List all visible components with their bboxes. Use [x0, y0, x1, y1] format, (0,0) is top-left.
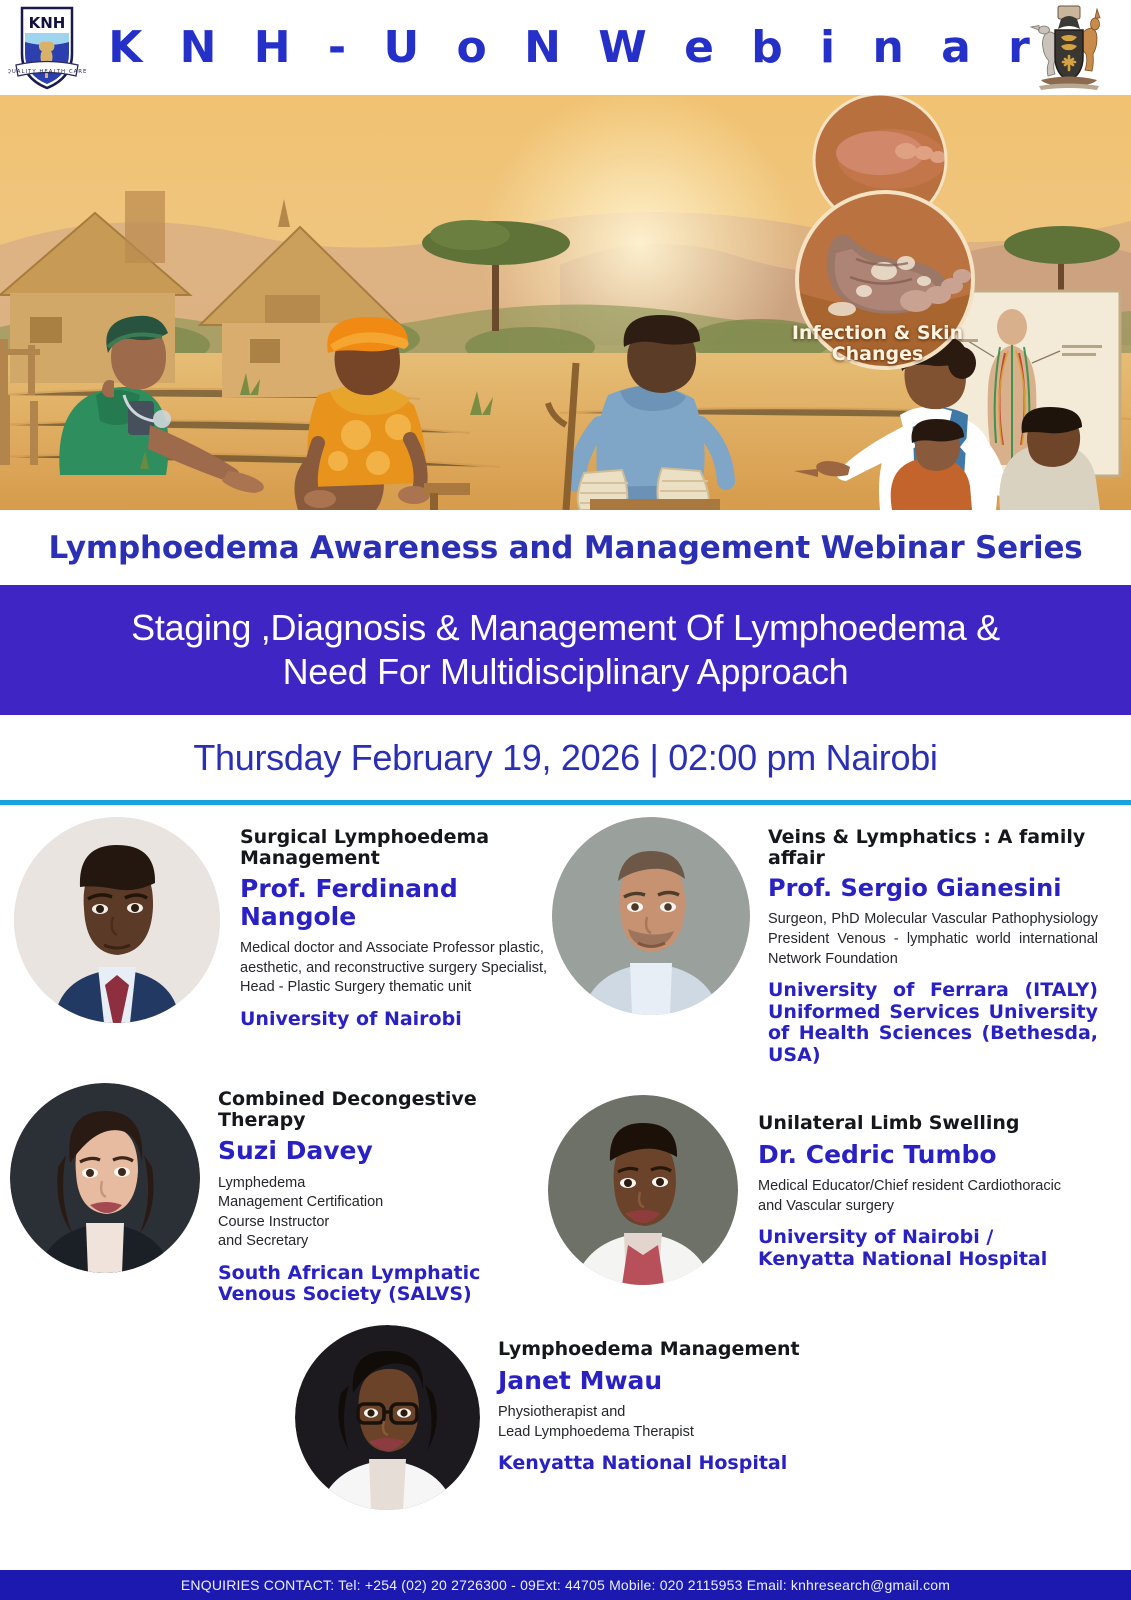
topic-line-2: Need For Multidisciplinary Approach [283, 651, 849, 692]
speaker-info-nangole: Surgical Lymphoedema Management Prof. Fe… [240, 817, 552, 1030]
webinar-poster: KNH QUALITY HEALTH CARE K N H - U o N W … [0, 0, 1131, 1600]
speaker-role: Veins & Lymphatics : A family affair [768, 827, 1098, 868]
speaker-name: Prof. Sergio Gianesini [768, 875, 1098, 901]
speaker-info-davey: Combined Decongestive Therapy Suzi Davey… [218, 1083, 518, 1306]
speaker-card-tumbo: Unilateral Limb Swelling Dr. Cedric Tumb… [548, 1095, 1123, 1285]
speaker-card-davey: Combined Decongestive Therapy Suzi Davey… [10, 1083, 550, 1306]
speaker-bio: Physiotherapist and Lead Lymphoedema The… [498, 1403, 848, 1442]
page-title: K N H - U o N W e b i n a r [0, 22, 1131, 73]
topic-line-1: Staging ,Diagnosis & Management Of Lymph… [131, 607, 1000, 648]
speaker-photo-tumbo [548, 1095, 738, 1285]
speaker-role: Lymphoedema Management [498, 1339, 848, 1360]
speaker-card-nangole: Surgical Lymphoedema Management Prof. Fe… [14, 817, 554, 1030]
uon-logo-icon [1025, 2, 1113, 92]
knh-logo-icon: KNH QUALITY HEALTH CARE [8, 2, 86, 92]
speaker-info-mwau: Lymphoedema Management Janet Mwau Physio… [498, 1325, 848, 1510]
date-band: Thursday February 19, 2026 | 02:00 pm Na… [0, 715, 1131, 800]
speaker-affiliation: South African Lymphatic Venous Society (… [218, 1263, 518, 1306]
speaker-affiliation: University of Nairobi / Kenyatta Nationa… [758, 1227, 1088, 1270]
speaker-affiliation: University of Nairobi [240, 1009, 552, 1031]
speaker-affiliation: Kenyatta National Hospital [498, 1453, 848, 1475]
hero-illustration: Infection & Skin Changes [0, 95, 1131, 510]
speaker-name: Dr. Cedric Tumbo [758, 1141, 1088, 1169]
speaker-role: Surgical Lymphoedema Management [240, 827, 552, 868]
speaker-role: Combined Decongestive Therapy [218, 1089, 518, 1130]
hero-callout-label: Infection & Skin Changes [790, 323, 965, 366]
svg-text:KNH: KNH [29, 14, 66, 32]
topic-band: Staging ,Diagnosis & Management Of Lymph… [0, 585, 1131, 715]
speaker-bio: Medical Educator/Chief resident Cardioth… [758, 1177, 1088, 1216]
speaker-photo-mwau [295, 1325, 480, 1510]
speaker-photo-nangole [14, 817, 220, 1023]
speaker-card-gianesini: Veins & Lymphatics : A family affair Pro… [552, 817, 1122, 1067]
series-title: Lymphoedema Awareness and Management Web… [48, 530, 1082, 566]
speaker-role: Unilateral Limb Swelling [758, 1113, 1088, 1134]
svg-text:QUALITY HEALTH CARE: QUALITY HEALTH CARE [8, 69, 86, 75]
hero-scene-graphic [0, 95, 1131, 510]
speaker-photo-davey [10, 1083, 200, 1273]
topic-text: Staging ,Diagnosis & Management Of Lymph… [111, 606, 1020, 694]
contact-footer: ENQUIRIES CONTACT: Tel: +254 (02) 20 272… [0, 1570, 1131, 1600]
speaker-name: Janet Mwau [498, 1367, 848, 1395]
event-datetime: Thursday February 19, 2026 | 02:00 pm Na… [193, 737, 937, 779]
speaker-photo-gianesini [552, 817, 750, 1015]
speaker-info-tumbo: Unilateral Limb Swelling Dr. Cedric Tumb… [758, 1095, 1088, 1285]
speaker-name: Suzi Davey [218, 1137, 518, 1165]
speaker-bio: Lymphedema Management Certification Cour… [218, 1174, 518, 1252]
speaker-card-mwau: Lymphoedema Management Janet Mwau Physio… [295, 1325, 895, 1510]
speaker-bio: Surgeon, PhD Molecular Vascular Pathophy… [768, 910, 1098, 969]
speaker-bio: Medical doctor and Associate Professor p… [240, 939, 552, 998]
speaker-affiliation: University of Ferrara (ITALY) Uniformed … [768, 980, 1098, 1067]
speaker-name: Prof. Ferdinand Nangole [240, 875, 552, 930]
speakers-section: Surgical Lymphoedema Management Prof. Fe… [0, 805, 1131, 1600]
contact-text: ENQUIRIES CONTACT: Tel: +254 (02) 20 272… [181, 1577, 950, 1593]
poster-header: KNH QUALITY HEALTH CARE K N H - U o N W … [0, 0, 1131, 95]
speaker-info-gianesini: Veins & Lymphatics : A family affair Pro… [768, 817, 1098, 1067]
series-title-band: Lymphoedema Awareness and Management Web… [0, 510, 1131, 585]
